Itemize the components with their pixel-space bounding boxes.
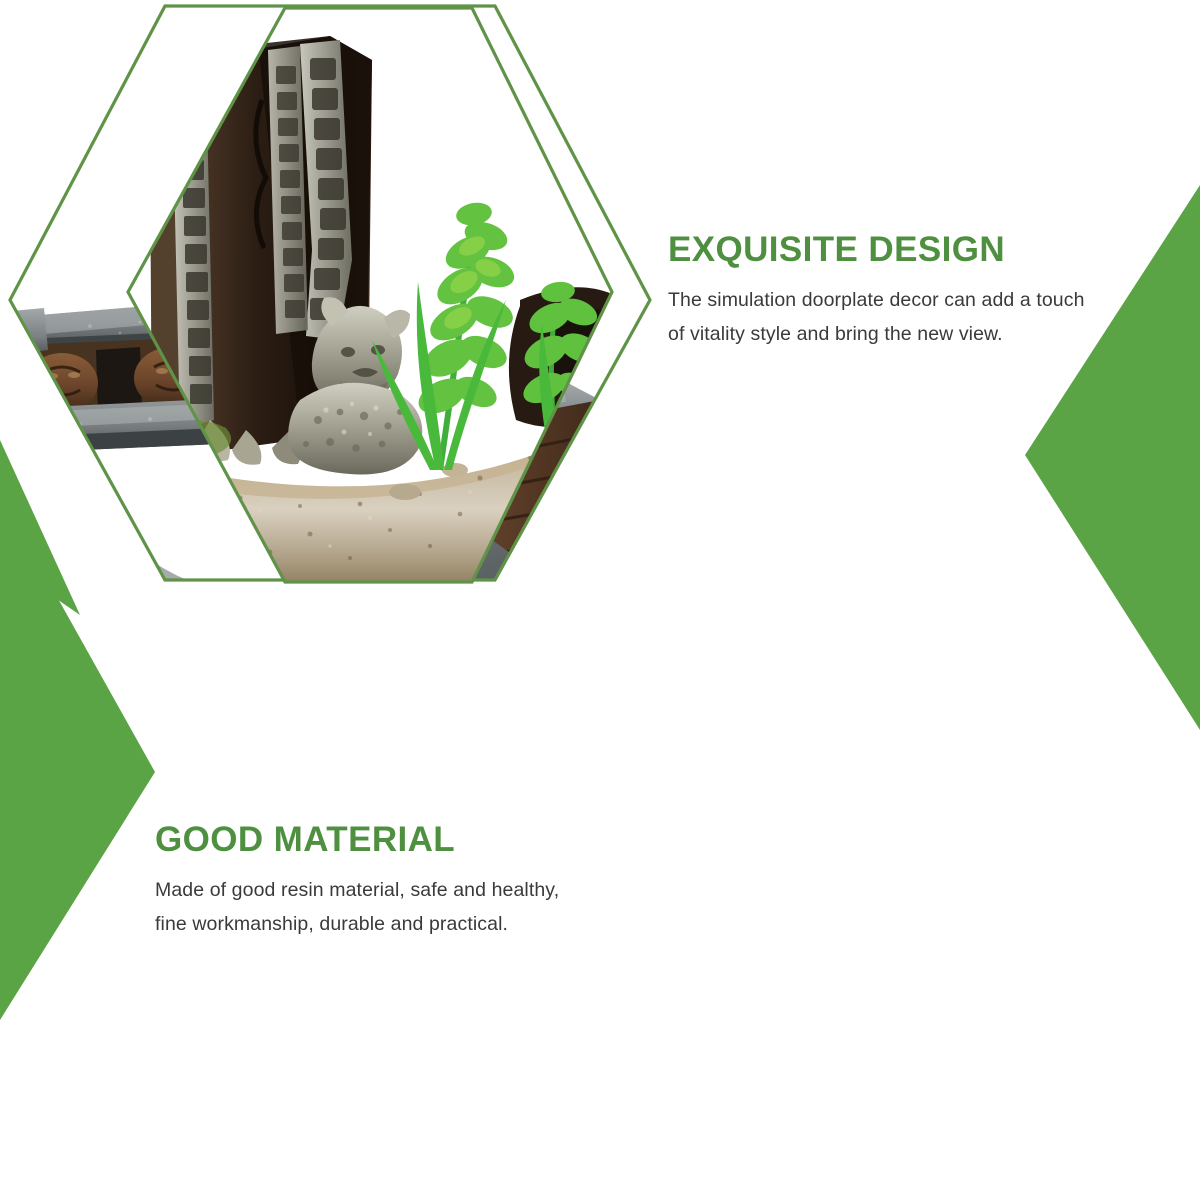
feature-body-good-material: Made of good resin material, safe and he…: [155, 873, 575, 942]
feature-heading-good-material: GOOD MATERIAL: [155, 822, 575, 859]
feature-body-exquisite-design: The simulation doorplate decor can add a…: [668, 283, 1088, 352]
ornament-edge-chunk: [0, 20, 58, 220]
feature-block-exquisite-design: EXQUISITE DESIGN The simulation doorplat…: [668, 232, 1088, 352]
infographic-canvas: EXQUISITE DESIGN The simulation doorplat…: [0, 0, 1200, 1200]
feature-heading-exquisite-design: EXQUISITE DESIGN: [668, 232, 1088, 269]
feature-block-good-material: GOOD MATERIAL Made of good resin materia…: [155, 822, 575, 942]
